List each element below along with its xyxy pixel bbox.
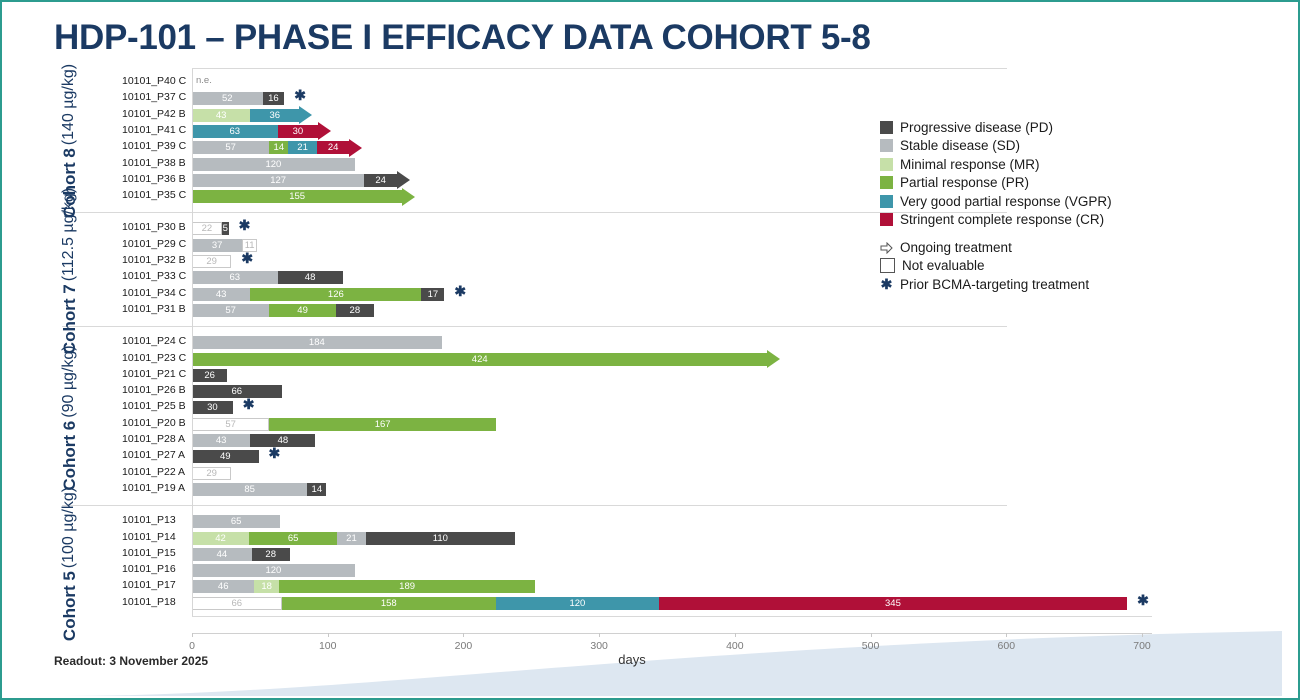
patient-id-label: 10101_P40 C <box>122 75 186 87</box>
prior-bcma-asterisk-icon: ✱ <box>241 252 253 265</box>
legend-swatch-pr-icon <box>880 176 893 189</box>
bar-segment-pd: 66 <box>192 385 282 398</box>
prior-bcma-asterisk-icon: ✱ <box>454 285 466 298</box>
bar-segment-vgpr: 63 <box>192 125 278 138</box>
axis-tick-label: 200 <box>455 640 473 652</box>
legend-item-sd[interactable]: Stable disease (SD) <box>880 137 1180 156</box>
prior-bcma-asterisk-icon: ✱ <box>269 447 281 460</box>
axis-tickmark <box>192 633 193 637</box>
patient-id-label: 10101_P39 C <box>122 140 186 152</box>
patient-id-label: 10101_P28 A <box>122 433 186 445</box>
bar-segment-sd: 63 <box>192 271 278 284</box>
ongoing-treatment-arrow-icon <box>767 350 780 368</box>
bar-segment-mr: 42 <box>192 532 249 545</box>
patient-id-label: 10101_P22 A <box>122 466 186 478</box>
ongoing-treatment-arrow-icon <box>397 171 410 189</box>
bar-segment-mr: 43 <box>192 109 250 122</box>
bar-segment-pr: 126 <box>250 288 421 301</box>
bar-segment-cr: 345 <box>659 597 1127 610</box>
patient-id-label: 10101_P36 B <box>122 173 186 185</box>
legend-item-asterisk[interactable]: ✱Prior BCMA-targeting treatment <box>880 275 1180 294</box>
bar-segment-vgpr: 21 <box>288 141 317 154</box>
patient-id-label: 10101_P21 C <box>122 368 186 380</box>
cohort-dose: (100 µg/kg) <box>60 487 78 568</box>
legend-item-arrow[interactable]: Ongoing treatment <box>880 238 1180 257</box>
patient-id-label: 10101_P24 C <box>122 335 186 347</box>
legend-label: Not evaluable <box>902 258 985 273</box>
legend-label: Prior BCMA-targeting treatment <box>900 277 1089 292</box>
patient-id-label: 10101_P41 C <box>122 124 186 136</box>
bar-segment-pr: 155 <box>192 190 402 203</box>
axis-tick-label: 0 <box>189 640 195 652</box>
patient-id-label: 10101_P34 C <box>122 287 186 299</box>
bar-segment-pd: 17 <box>421 288 444 301</box>
bar-segment-sd: 46 <box>192 580 254 593</box>
bar-segment-sd: 120 <box>192 564 355 577</box>
bar-segment-vgpr: 36 <box>250 109 299 122</box>
bar-segment-sd: 43 <box>192 288 250 301</box>
ongoing-treatment-arrow-icon <box>349 139 362 157</box>
cohort-divider <box>62 505 1007 506</box>
axis-tick-label: 500 <box>862 640 880 652</box>
cohort-divider <box>62 212 1007 213</box>
patient-id-label: 10101_P16 <box>122 563 186 575</box>
axis-tick-label: 600 <box>998 640 1016 652</box>
ongoing-treatment-arrow-icon <box>299 106 312 124</box>
prior-bcma-asterisk-icon: ✱ <box>243 398 255 411</box>
plot-bottom-border <box>192 616 1152 617</box>
patient-id-label: 10101_P42 B <box>122 108 186 120</box>
bar-segment-cr: 30 <box>278 125 319 138</box>
legend: Progressive disease (PD)Stable disease (… <box>880 118 1180 294</box>
cohort-label-4: Cohort 5(100 µg/kg) <box>60 410 80 564</box>
bar-segment-pd: 30 <box>192 401 233 414</box>
bar-segment-sd: 184 <box>192 336 442 349</box>
bar-segment-pr: 167 <box>269 418 496 431</box>
bar-segment-pr: 424 <box>192 353 767 366</box>
legend-swatch-vgpr-icon <box>880 195 893 208</box>
ongoing-treatment-arrow-icon <box>402 188 415 206</box>
bar-segment-pr: 49 <box>269 304 336 317</box>
cohort-label-3: Cohort 6(90 µg/kg) <box>60 272 80 417</box>
legend-swatch-pd-icon <box>880 121 893 134</box>
legend-label: Very good partial response (VGPR) <box>900 194 1112 209</box>
ongoing-treatment-arrow-icon <box>318 122 331 140</box>
bar-segment-pd: 16 <box>263 92 285 105</box>
legend-label: Ongoing treatment <box>900 240 1012 255</box>
patient-id-label: 10101_P35 C <box>122 189 186 201</box>
bar-segment-pr: 14 <box>269 141 288 154</box>
patient-id-label: 10101_P13 <box>122 514 186 526</box>
bar-segment-pd: 48 <box>250 434 315 447</box>
bar-segment-pr: 189 <box>279 580 536 593</box>
bar-segment-sd: 43 <box>192 434 250 447</box>
bar-segment-pd: 14 <box>307 483 326 496</box>
patient-id-label: 10101_P33 C <box>122 270 186 282</box>
y-axis-line <box>192 68 193 617</box>
slide-canvas: HDP-101 – PHASE I EFFICACY DATA COHORT 5… <box>0 0 1300 700</box>
legend-label: Stable disease (SD) <box>900 138 1020 153</box>
legend-label: Progressive disease (PD) <box>900 120 1053 135</box>
not-evaluable-text: n.e. <box>196 75 212 86</box>
bar-segment-sd: 21 <box>337 532 366 545</box>
bar-segment-pd: 28 <box>252 548 290 561</box>
axis-tickmark <box>328 633 329 637</box>
bar-segment-sd: 57 <box>192 141 269 154</box>
bar-segment-pd: 48 <box>278 271 343 284</box>
legend-item-hollow-square[interactable]: Not evaluable <box>880 257 1180 276</box>
axis-tickmark <box>735 633 736 637</box>
axis-tickmark <box>1006 633 1007 637</box>
prior-bcma-asterisk-icon: ✱ <box>239 219 251 232</box>
bar-segment-ne: 29 <box>192 255 231 268</box>
patient-id-label: 10101_P20 B <box>122 417 186 429</box>
bar-segment-ne: 22 <box>192 222 222 235</box>
legend-swatch-mr-icon <box>880 158 893 171</box>
cohort-dose: (90 µg/kg) <box>60 345 78 417</box>
bar-segment-pd: 26 <box>192 369 227 382</box>
patient-id-label: 10101_P32 B <box>122 254 186 266</box>
axis-tick-label: 400 <box>726 640 744 652</box>
legend-swatch-cr-icon <box>880 213 893 226</box>
bar-segment-pd: 49 <box>192 450 259 463</box>
bar-segment-pr: 158 <box>282 597 496 610</box>
bar-segment-ne: 66 <box>192 597 282 610</box>
bar-segment-pr: 65 <box>249 532 337 545</box>
prior-bcma-asterisk-icon: ✱ <box>294 89 306 102</box>
axis-tickmark <box>1142 633 1143 637</box>
bar-segment-sd: 65 <box>192 515 280 528</box>
bar-segment-pd: 5 <box>222 222 229 235</box>
bar-segment-sd: 44 <box>192 548 252 561</box>
bar-segment-ne: 57 <box>192 418 269 431</box>
bar-segment-pd: 28 <box>336 304 374 317</box>
cohort-label-2: Cohort 7(112.5 µg/kg) <box>60 105 80 271</box>
patient-id-label: 10101_P26 B <box>122 384 186 396</box>
axis-tick-label: 300 <box>590 640 608 652</box>
readout-date: Readout: 3 November 2025 <box>54 654 208 668</box>
axis-tick-label: 700 <box>1133 640 1151 652</box>
patient-id-label: 10101_P19 A <box>122 482 186 494</box>
legend-item-pr[interactable]: Partial response (PR) <box>880 174 1180 193</box>
patient-id-label: 10101_P38 B <box>122 157 186 169</box>
legend-swatch-sd-icon <box>880 139 893 152</box>
bar-segment-sd: 120 <box>192 158 355 171</box>
prior-bcma-asterisk-icon: ✱ <box>1137 594 1149 607</box>
legend-spacer <box>880 229 1180 238</box>
legend-label: Minimal response (MR) <box>900 157 1040 172</box>
not-evaluable-square-icon <box>880 258 895 273</box>
x-axis-line <box>192 633 1152 634</box>
patient-id-label: 10101_P14 <box>122 531 186 543</box>
patient-id-label: 10101_P27 A <box>122 449 186 461</box>
axis-tickmark <box>871 633 872 637</box>
cohort-name: Cohort 5 <box>60 571 80 641</box>
cohort-divider <box>62 326 1007 327</box>
bar-segment-sd: 37 <box>192 239 242 252</box>
legend-item-mr[interactable]: Minimal response (MR) <box>880 155 1180 174</box>
axis-tickmark <box>599 633 600 637</box>
patient-id-label: 10101_P31 B <box>122 303 186 315</box>
bar-segment-mr: 18 <box>254 580 278 593</box>
axis-tick-label: 100 <box>319 640 337 652</box>
patient-id-label: 10101_P25 B <box>122 400 186 412</box>
legend-item-cr[interactable]: Stringent complete response (CR) <box>880 211 1180 230</box>
legend-item-pd[interactable]: Progressive disease (PD) <box>880 118 1180 137</box>
axis-tickmark <box>463 633 464 637</box>
ongoing-arrow-icon <box>880 241 893 254</box>
patient-id-label: 10101_P23 C <box>122 352 186 364</box>
asterisk-icon: ✱ <box>880 276 893 293</box>
bar-segment-pd: 24 <box>364 174 397 187</box>
legend-label: Stringent complete response (CR) <box>900 212 1104 227</box>
bar-segment-sd: 52 <box>192 92 263 105</box>
patient-id-label: 10101_P29 C <box>122 238 186 250</box>
patient-id-label: 10101_P30 B <box>122 221 186 233</box>
legend-label: Partial response (PR) <box>900 175 1029 190</box>
bar-segment-ne: 29 <box>192 467 231 480</box>
bar-segment-pd: 110 <box>366 532 515 545</box>
cohort-dose: (112.5 µg/kg) <box>60 188 78 281</box>
bar-segment-cr: 24 <box>317 141 350 154</box>
bar-segment-vgpr: 120 <box>496 597 659 610</box>
patient-id-label: 10101_P15 <box>122 547 186 559</box>
bar-segment-sd: 85 <box>192 483 307 496</box>
patient-id-label: 10101_P17 <box>122 579 186 591</box>
bar-segment-sd: 57 <box>192 304 269 317</box>
patient-id-label: 10101_P18 <box>122 596 186 608</box>
patient-id-label: 10101_P37 C <box>122 91 186 103</box>
bar-segment-sd: 127 <box>192 174 364 187</box>
plot-top-border <box>192 68 1007 69</box>
page-title: HDP-101 – PHASE I EFFICACY DATA COHORT 5… <box>54 18 871 58</box>
legend-item-vgpr[interactable]: Very good partial response (VGPR) <box>880 192 1180 211</box>
